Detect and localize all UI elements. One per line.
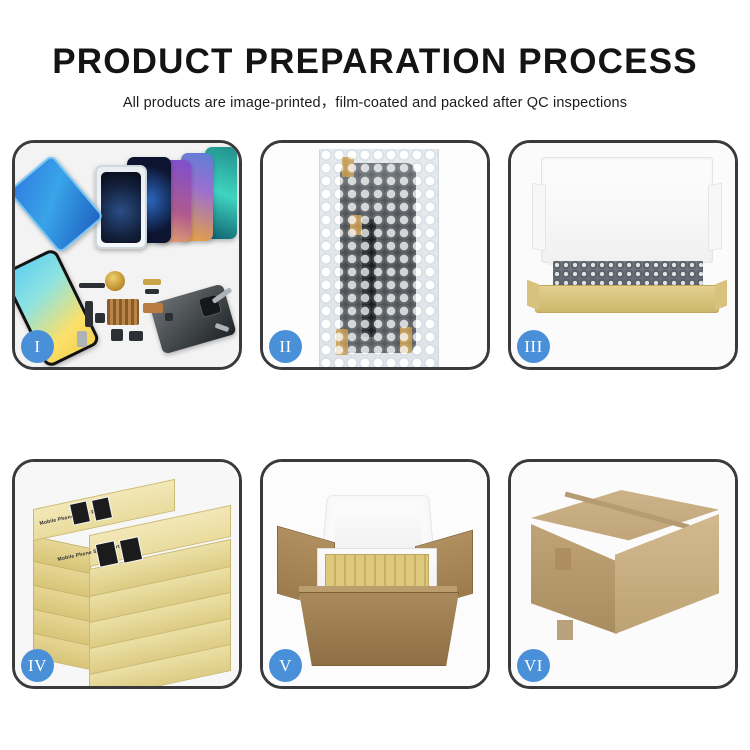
panel-3-stage: III: [511, 143, 735, 367]
step-badge-2: II: [269, 330, 302, 363]
step-badge-6: VI: [517, 649, 550, 682]
small-part-sim-tray: [77, 331, 87, 347]
process-step-panel-6: VI: [508, 459, 738, 689]
step-badge-4: IV: [21, 649, 54, 682]
panel-2-stage: II: [263, 143, 487, 367]
tempered-glass-protector: [95, 165, 147, 249]
step-badge-5: V: [269, 649, 302, 682]
step-badge-1: I: [21, 330, 54, 363]
carton-front-panel: [299, 592, 459, 666]
inner-box-front-panel: [535, 285, 719, 313]
process-step-grid: I II: [12, 140, 738, 689]
sealed-carton-tape-upper: [555, 548, 571, 570]
wrapped-flex-cable: [362, 219, 376, 337]
wrapped-connector-middle: [350, 215, 362, 235]
process-step-panel-5: V: [260, 459, 490, 689]
page-title: PRODUCT PREPARATION PROCESS: [0, 0, 750, 81]
wrapped-connector-top: [342, 157, 354, 177]
small-part-chip: [165, 313, 173, 321]
wrapped-screen-assembly: [340, 163, 416, 353]
bubble-wrap-bag: [319, 149, 439, 367]
product-preparation-process-page: PRODUCT PREPARATION PROCESS All products…: [0, 0, 750, 750]
page-subtitle: All products are image-printed，film-coat…: [0, 81, 750, 112]
small-part-gold-flex: [143, 279, 161, 285]
wrapped-connector-bottom-left: [336, 329, 348, 355]
small-part-vibrator: [129, 331, 143, 341]
small-part-flex-cable: [85, 301, 93, 327]
panel-6-stage: VI: [511, 462, 735, 686]
panel-1-stage: I: [15, 143, 239, 367]
inner-box-foam-sheet: [547, 193, 705, 265]
speaker-module-icon: [105, 271, 125, 291]
small-part-connector: [145, 289, 159, 294]
process-step-panel-2: II: [260, 140, 490, 370]
process-step-panel-3: III: [508, 140, 738, 370]
step-badge-3: III: [517, 330, 550, 363]
panel-5-stage: V: [263, 462, 487, 686]
small-part-strip: [79, 283, 105, 288]
screw-tray-icon: [107, 299, 139, 325]
wrapped-connector-bottom-right: [400, 327, 412, 353]
process-step-panel-4: Mobile Phone Spare Parts Mobile Phone Sp…: [12, 459, 242, 689]
panel-4-stage: Mobile Phone Spare Parts Mobile Phone Sp…: [15, 462, 239, 686]
small-part-copper-flex: [143, 303, 163, 313]
small-part-button: [111, 329, 123, 341]
small-part-camera: [95, 313, 105, 323]
page-header: PRODUCT PREPARATION PROCESS All products…: [0, 0, 750, 112]
sealed-carton-tape-lower: [557, 620, 573, 640]
process-step-panel-1: I: [12, 140, 242, 370]
